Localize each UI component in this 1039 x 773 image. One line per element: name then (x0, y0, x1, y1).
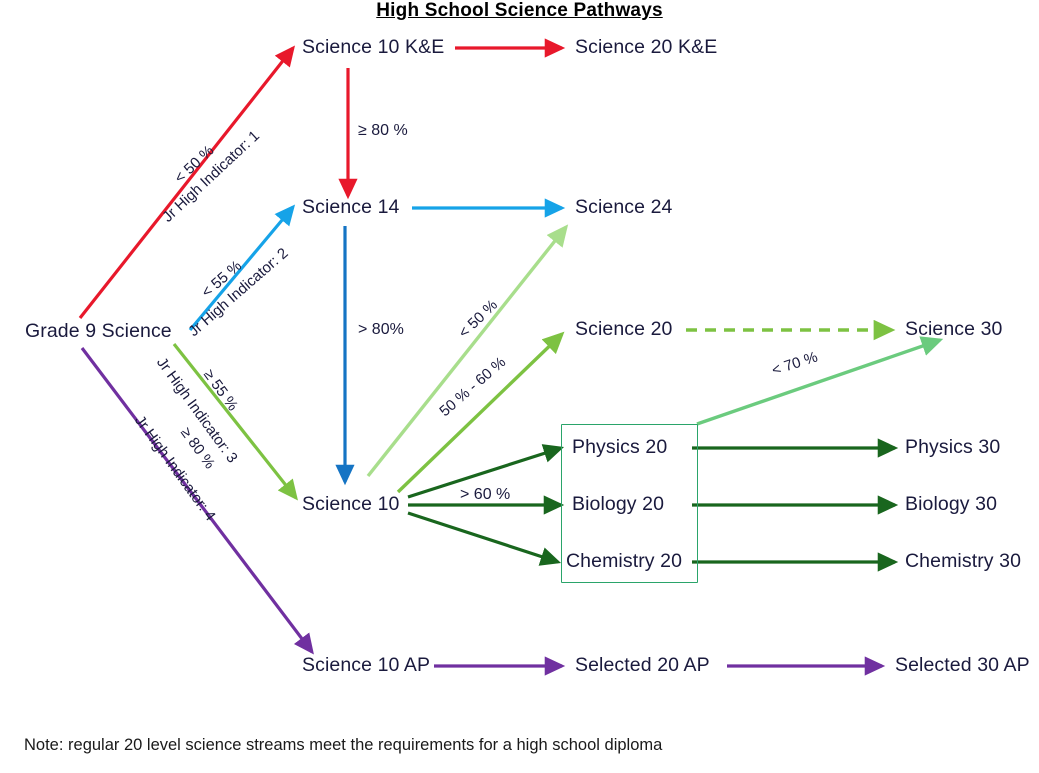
node-chemistry-20[interactable]: Chemistry 20 (566, 552, 682, 572)
node-science-10-ke[interactable]: Science 10 K&E (302, 38, 444, 58)
edge-label-50-60-pct-sci20: 50 % - 60 % (437, 354, 509, 419)
edge-label-lt-70-pct: < 70 % (770, 349, 820, 379)
node-physics-20[interactable]: Physics 20 (572, 438, 667, 458)
diagram-canvas: High School Science Pathways (0, 0, 1039, 773)
node-biology-20[interactable]: Biology 20 (572, 495, 664, 515)
node-science-30[interactable]: Science 30 (905, 320, 1002, 340)
node-science-20[interactable]: Science 20 (575, 320, 672, 340)
node-selected-30-ap[interactable]: Selected 30 AP (895, 656, 1030, 676)
node-science-10-ap[interactable]: Science 10 AP (302, 656, 430, 676)
node-selected-20-ap[interactable]: Selected 20 AP (575, 656, 710, 676)
edge-label-ge-80-pct-ke: ≥ 80 % (358, 123, 408, 140)
node-chemistry-30[interactable]: Chemistry 30 (905, 552, 1021, 572)
edge-sci10-to-sci20 (398, 334, 562, 492)
diagram-note: Note: regular 20 level science streams m… (24, 736, 662, 755)
node-biology-30[interactable]: Biology 30 (905, 495, 997, 515)
node-science-14[interactable]: Science 14 (302, 198, 399, 218)
edge-label-lt-50-pct-sci24: < 50 % (456, 297, 501, 341)
page-title: High School Science Pathways (0, 0, 1039, 22)
edge-sci10-to-chem20 (408, 513, 558, 562)
edge-grade9-to-sci10 (174, 344, 296, 498)
node-grade-9-science[interactable]: Grade 9 Science (25, 322, 172, 342)
node-physics-30[interactable]: Physics 30 (905, 438, 1000, 458)
node-science-20-ke[interactable]: Science 20 K&E (575, 38, 717, 58)
edge-label-ge-55-pct-branch3: ≥ 55 % (200, 367, 240, 414)
edge-label-gt-80-pct-sci14: > 80% (358, 322, 404, 339)
edge-layer (0, 0, 1039, 773)
edge-sci10-to-sci24 (368, 227, 566, 476)
edge-label-gt-60-pct: > 60 % (460, 487, 510, 504)
node-science-24[interactable]: Science 24 (575, 198, 672, 218)
edge-box-to-sci30 (697, 340, 940, 424)
node-science-10[interactable]: Science 10 (302, 495, 399, 515)
